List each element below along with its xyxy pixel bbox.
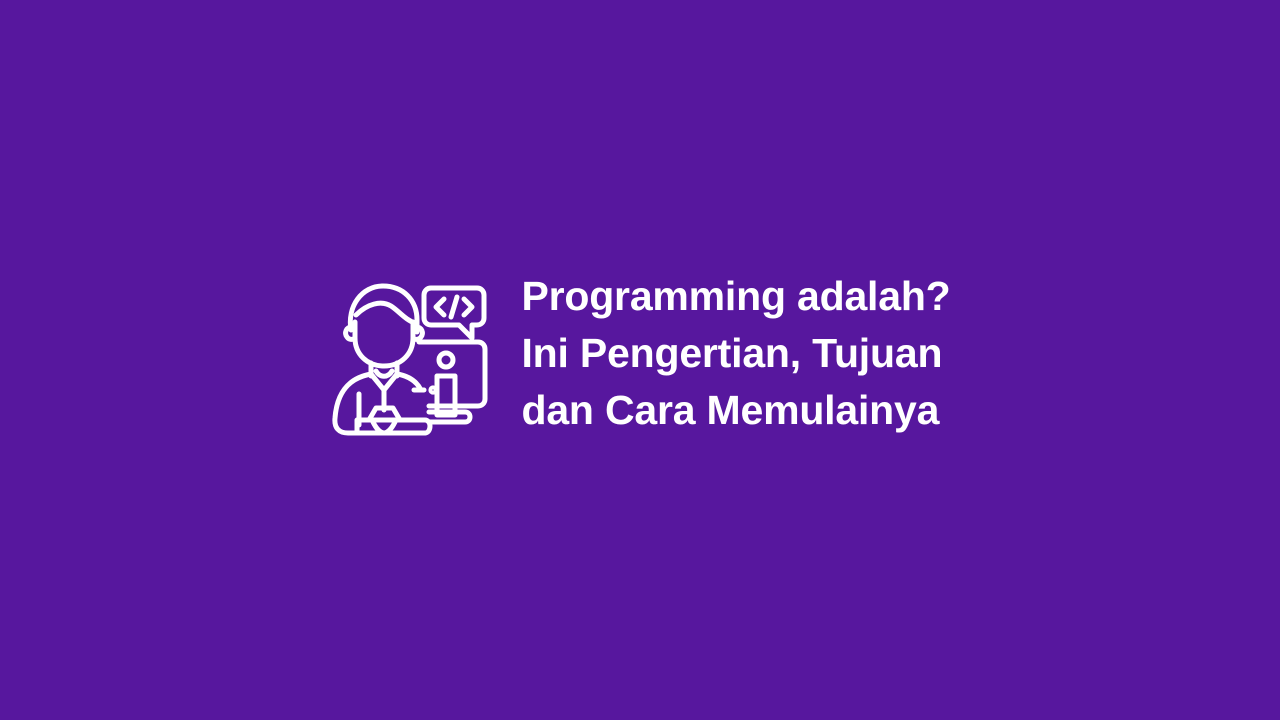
code-speech-bubble-icon [424, 288, 484, 338]
desktop-monitor-icon [414, 342, 485, 422]
headline-line-2: Ini Pengertian, Tujuan [521, 325, 950, 382]
purple-banner: Programming adalah? Ini Pengertian, Tuju… [0, 0, 1280, 720]
person-face-icon [355, 322, 413, 366]
person-collar-inner-icon [376, 371, 392, 376]
headline-line-1: Programming adalah? [521, 268, 950, 325]
headline-line-3: dan Cara Memulainya [521, 382, 950, 439]
banner-content: Programming adalah? Ini Pengertian, Tuju… [329, 268, 950, 439]
headline: Programming adalah? Ini Pengertian, Tuju… [521, 268, 950, 439]
person-hair-icon [351, 286, 418, 332]
programmer-at-computer-illustration [329, 270, 491, 436]
